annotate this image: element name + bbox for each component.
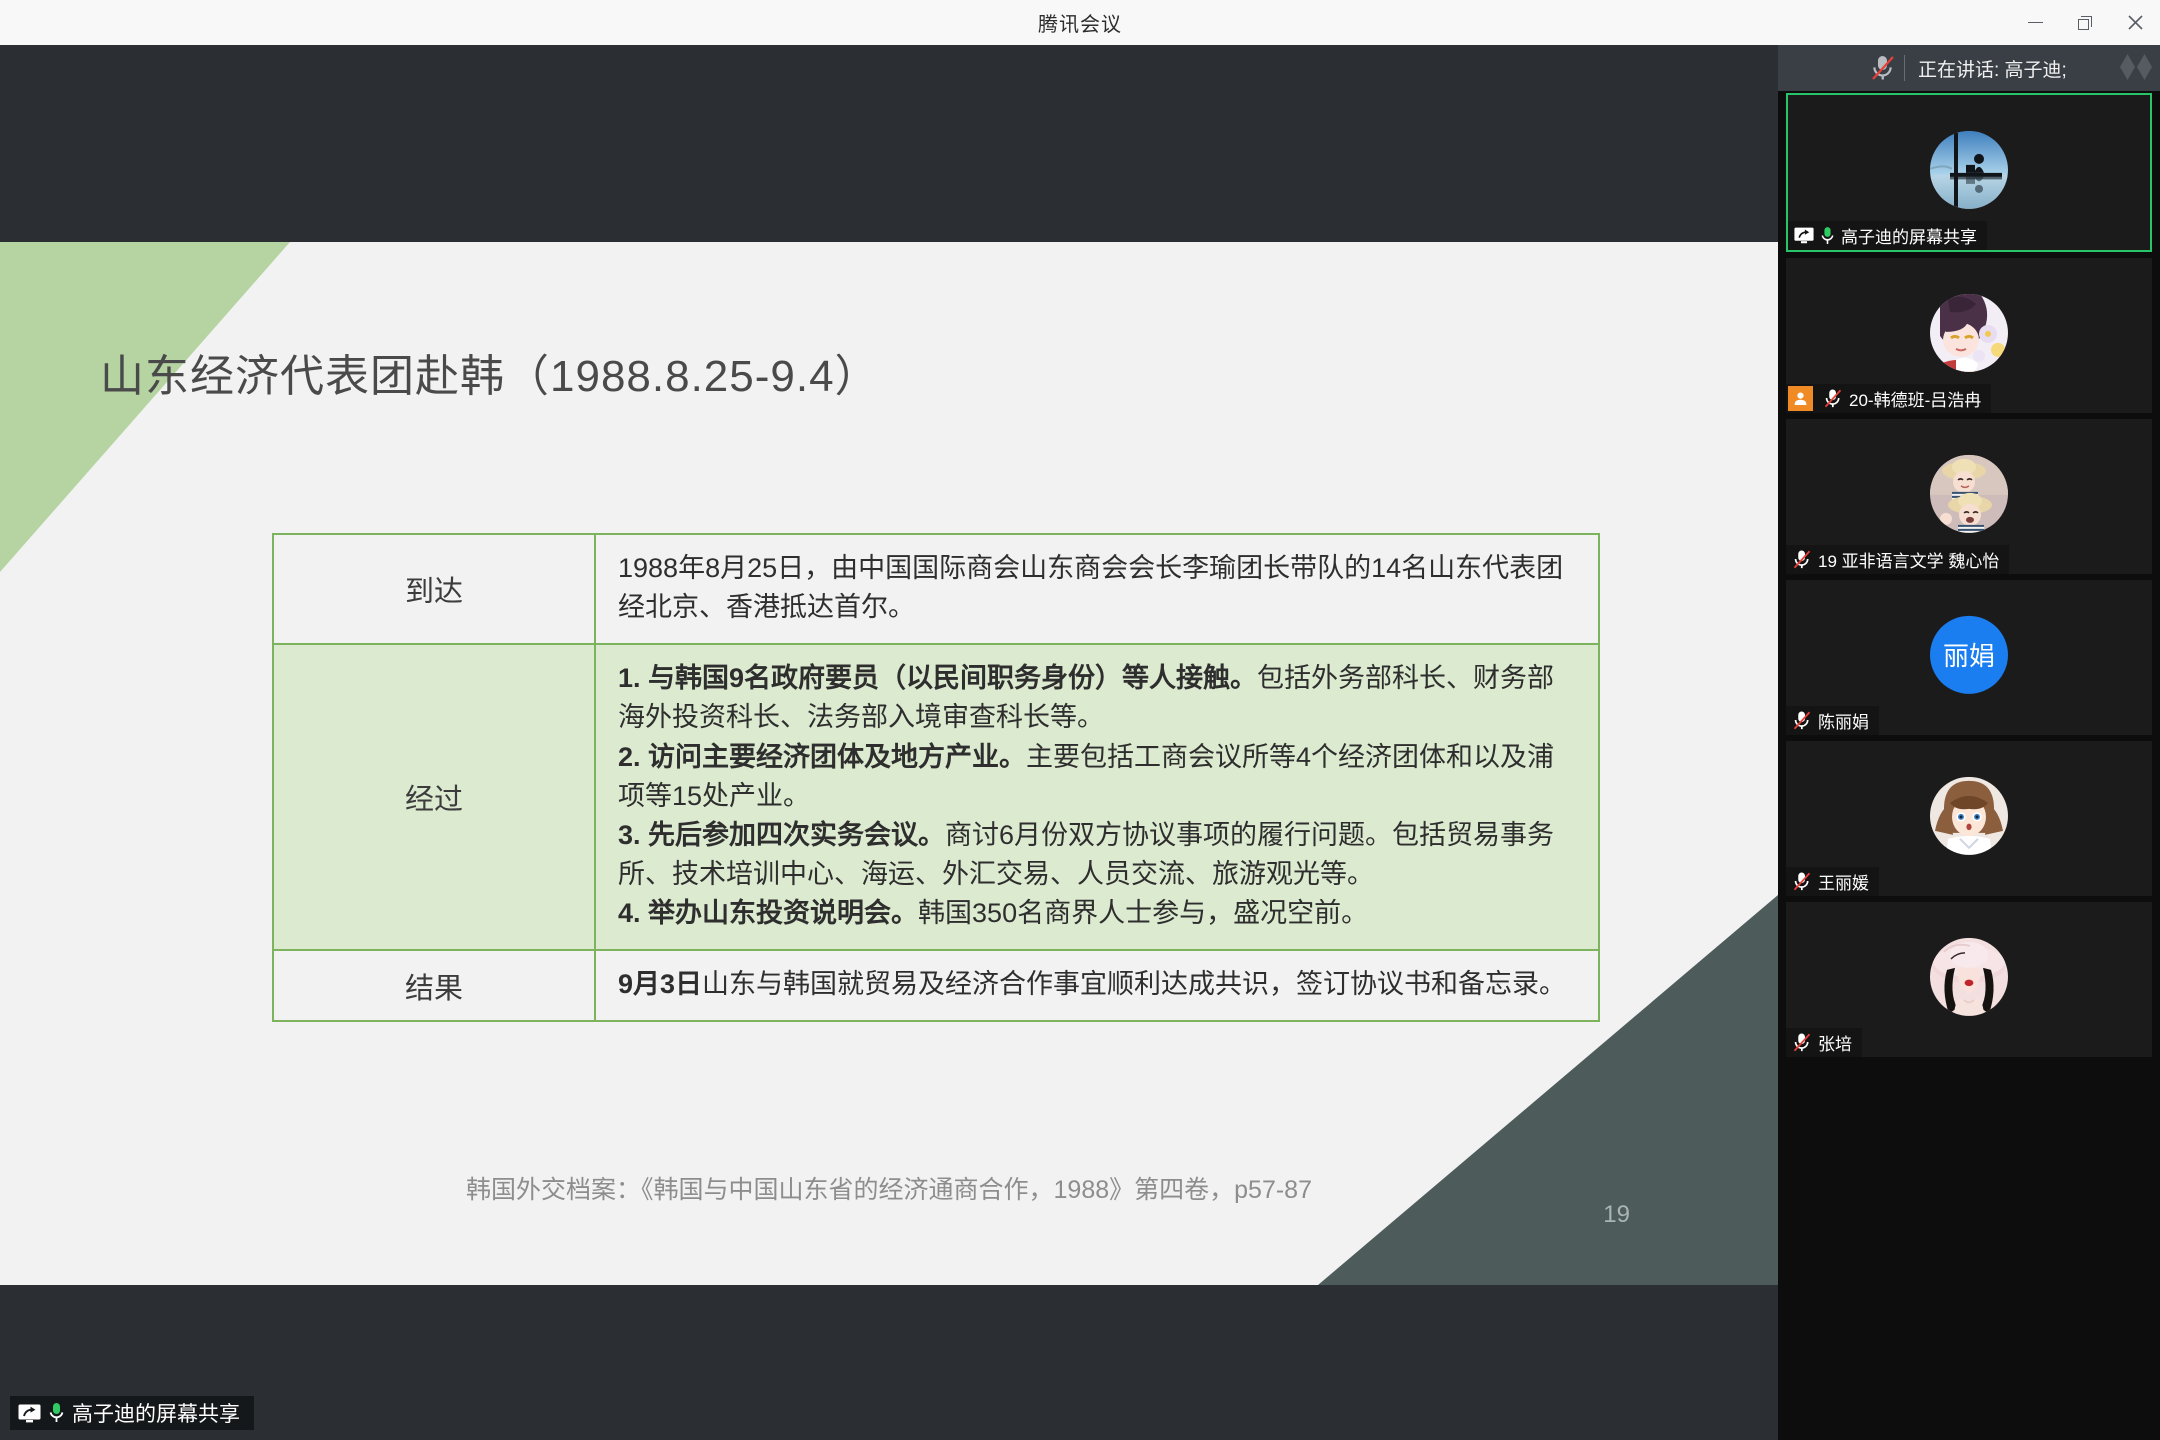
table-content-line: 1988年8月25日，由中国国际商会山东商会会长李瑜团长带队的14名山东代表团经… — [618, 549, 1578, 627]
window-title-bar: 腾讯会议 — [0, 0, 2160, 45]
active-speaker-label: 正在讲话: 高子迪; — [1918, 55, 2067, 82]
window-title: 腾讯会议 — [1038, 8, 1122, 37]
table-row: 经过1. 与韩国9名政府要员（以民间职务身份）等人接触。包括外务部科长、财务部海… — [273, 644, 1599, 950]
screen-share-status-chip: 高子迪的屏幕共享 — [10, 1396, 254, 1430]
avatar — [1930, 937, 2008, 1015]
table-content-line: 3. 先后参加四次实务会议。商讨6月份双方协议事项的履行问题。包括贸易事务所、技… — [618, 816, 1578, 894]
avatar: 丽娟 — [1930, 615, 2008, 693]
close-icon — [2128, 15, 2143, 30]
close-button[interactable] — [2110, 0, 2160, 45]
content-emphasis: 4. 举办山东投资说明会。 — [618, 898, 918, 928]
participant-name: 高子迪的屏幕共享 — [1841, 223, 1977, 248]
avatar — [1930, 293, 2008, 371]
slide-content-table: 到达1988年8月25日，由中国国际商会山东商会会长李瑜团长带队的14名山东代表… — [272, 533, 1600, 1022]
participant-name-bar: 张培 — [1786, 1028, 1862, 1057]
participants-sidebar: 正在讲话: 高子迪; 高子迪的屏幕共享20-韩德班-吕浩冉19 亚非语言文学 魏… — [1778, 45, 2160, 1440]
content-emphasis: 1. 与韩国9名政府要员（以民间职务身份）等人接触。 — [618, 663, 1257, 693]
table-content-line: 2. 访问主要经济团体及地方产业。主要包括工商会议所等4个经济团体和以及浦项等1… — [618, 738, 1578, 816]
restore-icon — [2078, 16, 2092, 30]
table-row-content: 9月3日山东与韩国就贸易及经济合作事宜顺利达成共识，签订协议书和备忘录。 — [595, 950, 1599, 1021]
mic-muted-icon — [1786, 549, 1812, 570]
content-text: 韩国350名商界人士参与，盛况空前。 — [918, 898, 1368, 928]
avatar — [1930, 776, 2008, 854]
slide-decoration-green-corner — [0, 242, 400, 572]
screen-share-icon — [1788, 227, 1814, 245]
mic-muted-icon — [1823, 388, 1843, 409]
mic-on-icon — [1820, 226, 1835, 246]
minimize-icon — [2028, 22, 2043, 24]
slide-citation: 韩国外交档案：《韩国与中国山东省的经济通商合作，1988》第四卷，p57-87 — [0, 1170, 1778, 1206]
participant-name-bar: 高子迪的屏幕共享 — [1788, 221, 1987, 250]
content-emphasis: 3. 先后参加四次实务会议。 — [618, 820, 945, 850]
window-controls — [2010, 0, 2160, 45]
participant-tile[interactable]: 高子迪的屏幕共享 — [1786, 93, 2152, 252]
participant-tile[interactable]: 王丽媛 — [1786, 741, 2152, 896]
participant-tile[interactable]: 丽娟陈丽娟 — [1786, 580, 2152, 735]
content-emphasis: 2. 访问主要经济团体及地方产业。 — [618, 742, 1026, 772]
participant-tile[interactable]: 19 亚非语言文学 魏心怡 — [1786, 419, 2152, 574]
table-body: 到达1988年8月25日，由中国国际商会山东商会会长李瑜团长带队的14名山东代表… — [273, 534, 1599, 1021]
mic-muted-icon — [1786, 1032, 1812, 1053]
screen-share-icon — [18, 1404, 41, 1423]
table-row-content: 1988年8月25日，由中国国际商会山东商会会长李瑜团长带队的14名山东代表团经… — [595, 534, 1599, 644]
participant-tile[interactable]: 20-韩德班-吕浩冉 — [1786, 258, 2152, 413]
screen-share-status-label: 高子迪的屏幕共享 — [72, 1398, 240, 1428]
participant-name: 19 亚非语言文学 魏心怡 — [1818, 547, 1999, 572]
table-row-label: 结果 — [273, 950, 595, 1021]
collapse-panel-icon[interactable] — [2120, 54, 2152, 80]
speaker-bar-divider — [1904, 55, 1905, 81]
participant-name: 张培 — [1818, 1030, 1852, 1055]
shared-screen-stage: 19 山东经济代表团赴韩（1988.8.25-9.4） 到达1988年8月25日… — [0, 45, 1778, 1440]
participant-name: 陈丽娟 — [1818, 708, 1869, 733]
minimize-button[interactable] — [2010, 0, 2060, 45]
host-badge-icon — [1788, 386, 1813, 411]
avatar — [1930, 130, 2008, 208]
content-emphasis: 9月3日 — [618, 969, 702, 999]
avatar — [1930, 454, 2008, 532]
content-text: 1988年8月25日，由中国国际商会山东商会会长李瑜团长带队的14名山东代表团经… — [618, 553, 1563, 622]
participant-name-bar: 20-韩德班-吕浩冉 — [1786, 384, 1991, 413]
participant-name: 王丽媛 — [1818, 869, 1869, 894]
table-row-label: 到达 — [273, 534, 595, 644]
table-row-content: 1. 与韩国9名政府要员（以民间职务身份）等人接触。包括外务部科长、财务部海外投… — [595, 644, 1599, 950]
table-content-line: 4. 举办山东投资说明会。韩国350名商界人士参与，盛况空前。 — [618, 894, 1578, 933]
mic-on-icon — [48, 1402, 65, 1424]
table-row: 到达1988年8月25日，由中国国际商会山东商会会长李瑜团长带队的14名山东代表… — [273, 534, 1599, 644]
table-row-label: 经过 — [273, 644, 595, 950]
participant-name-bar: 陈丽娟 — [1786, 706, 1879, 735]
mic-muted-icon — [1786, 710, 1812, 731]
mic-muted-icon — [1786, 871, 1812, 892]
mic-muted-icon — [1870, 54, 1896, 87]
slide-title: 山东经济代表团赴韩（1988.8.25-9.4） — [100, 340, 880, 404]
participant-name-bar: 王丽媛 — [1786, 867, 1879, 896]
table-row: 结果9月3日山东与韩国就贸易及经济合作事宜顺利达成共识，签订协议书和备忘录。 — [273, 950, 1599, 1021]
table-content-line: 9月3日山东与韩国就贸易及经济合作事宜顺利达成共识，签订协议书和备忘录。 — [618, 965, 1578, 1004]
participant-name: 20-韩德班-吕浩冉 — [1849, 386, 1981, 411]
content-text: 山东与韩国就贸易及经济合作事宜顺利达成共识，签订协议书和备忘录。 — [702, 969, 1566, 999]
restore-button[interactable] — [2060, 0, 2110, 45]
participant-name-bar: 19 亚非语言文学 魏心怡 — [1786, 545, 2009, 574]
table-content-line: 1. 与韩国9名政府要员（以民间职务身份）等人接触。包括外务部科长、财务部海外投… — [618, 659, 1578, 737]
participant-tile-list: 高子迪的屏幕共享20-韩德班-吕浩冉19 亚非语言文学 魏心怡丽娟陈丽娟王丽媛张… — [1778, 91, 2160, 1440]
participant-tile[interactable]: 张培 — [1786, 902, 2152, 1057]
active-speaker-bar: 正在讲话: 高子迪; — [1778, 45, 2160, 91]
